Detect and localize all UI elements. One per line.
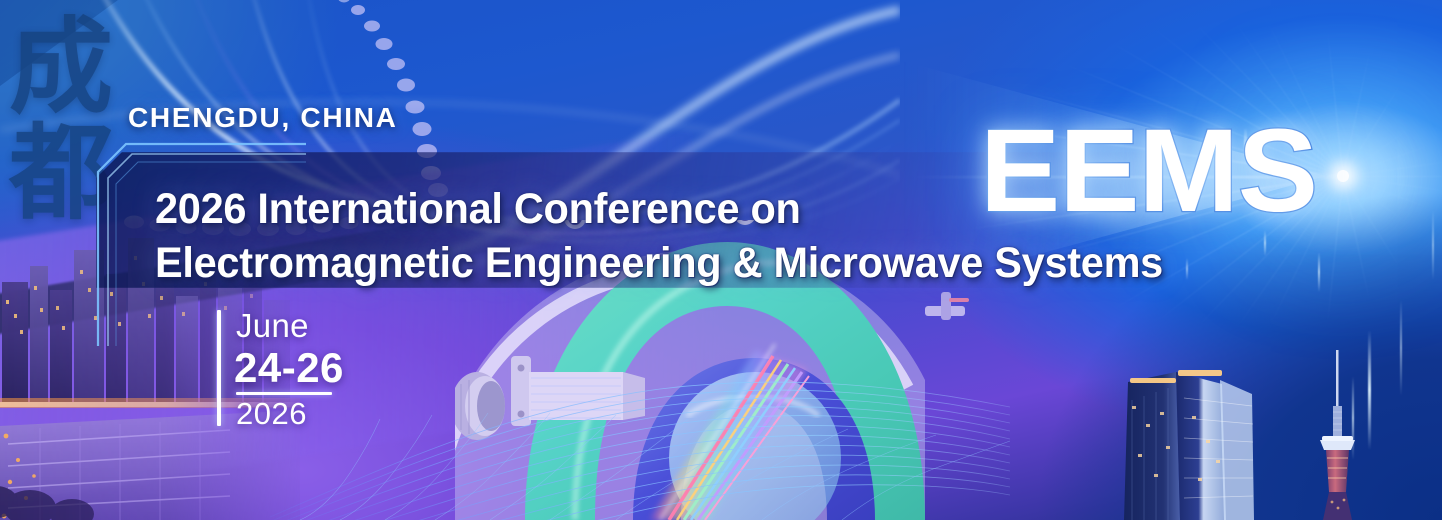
- conference-title: 2026 International Conference on Electro…: [155, 182, 1323, 290]
- light-burst-core: [1337, 170, 1349, 182]
- location-label: CHENGDU, CHINA: [128, 102, 398, 134]
- date-year: 2026: [236, 396, 307, 432]
- light-streak: [1432, 210, 1434, 280]
- conference-title-line-1: 2026 International Conference on: [155, 182, 1323, 236]
- conference-title-line-2: Electromagnetic Engineering & Microwave …: [155, 236, 1323, 290]
- date-days: 24-26: [234, 344, 344, 392]
- chengdu-towers-icon: [1102, 350, 1402, 520]
- conference-banner: 成都: [0, 0, 1442, 520]
- wave-mesh-grid-icon: [230, 345, 1010, 520]
- date-month: June: [236, 307, 309, 345]
- date-vertical-rule: [217, 310, 221, 426]
- date-horizontal-rule: [236, 392, 332, 395]
